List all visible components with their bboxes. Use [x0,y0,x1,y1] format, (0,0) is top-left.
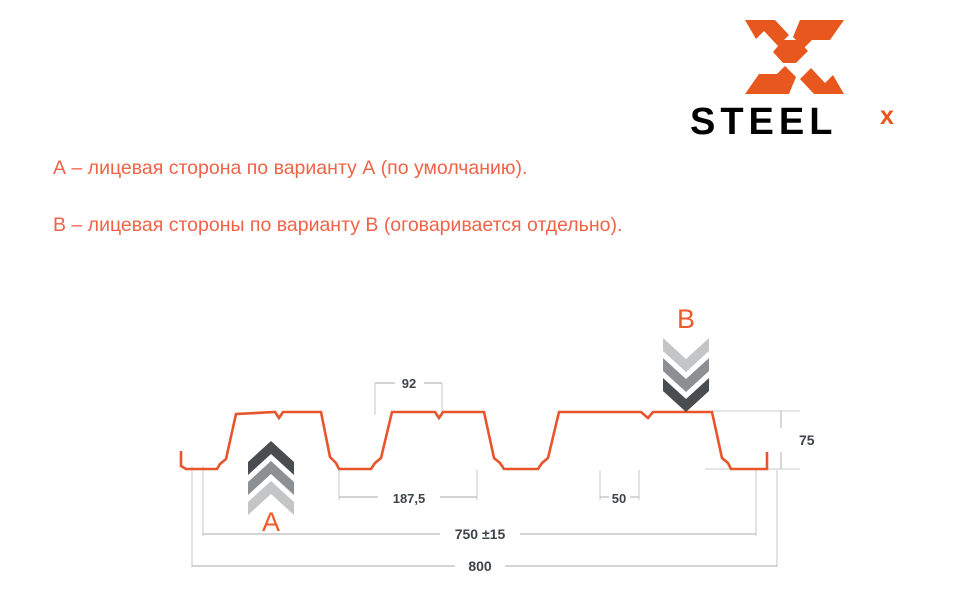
dim-50-label: 50 [612,491,626,506]
dim-750-label: 750 ±15 [455,526,506,542]
page-root: STEEL x А – лицевая сторона по варианту … [0,0,970,597]
marker-b: В [663,304,709,412]
marker-b-label: В [677,304,695,334]
marker-a-label: А [262,507,280,537]
profile-technical-drawing: 92 187,5 50 750 ±15 800 [0,0,970,597]
marker-a-chevrons-icon [248,441,294,515]
dim-187-5-label: 187,5 [393,491,426,506]
dim-800: 800 [192,558,777,574]
dim-800-label: 800 [468,558,492,574]
profile-outline [181,412,767,469]
dim-92-label: 92 [402,376,416,391]
dim-50: 50 [600,491,639,506]
dim-92: 92 [375,376,442,391]
marker-b-chevrons-icon [663,338,709,412]
marker-a: А [248,441,294,537]
dim-75: 75 [781,411,815,469]
dim-75-label: 75 [799,432,815,448]
dim-750: 750 ±15 [203,526,756,542]
dim-187-5: 187,5 [339,491,477,506]
